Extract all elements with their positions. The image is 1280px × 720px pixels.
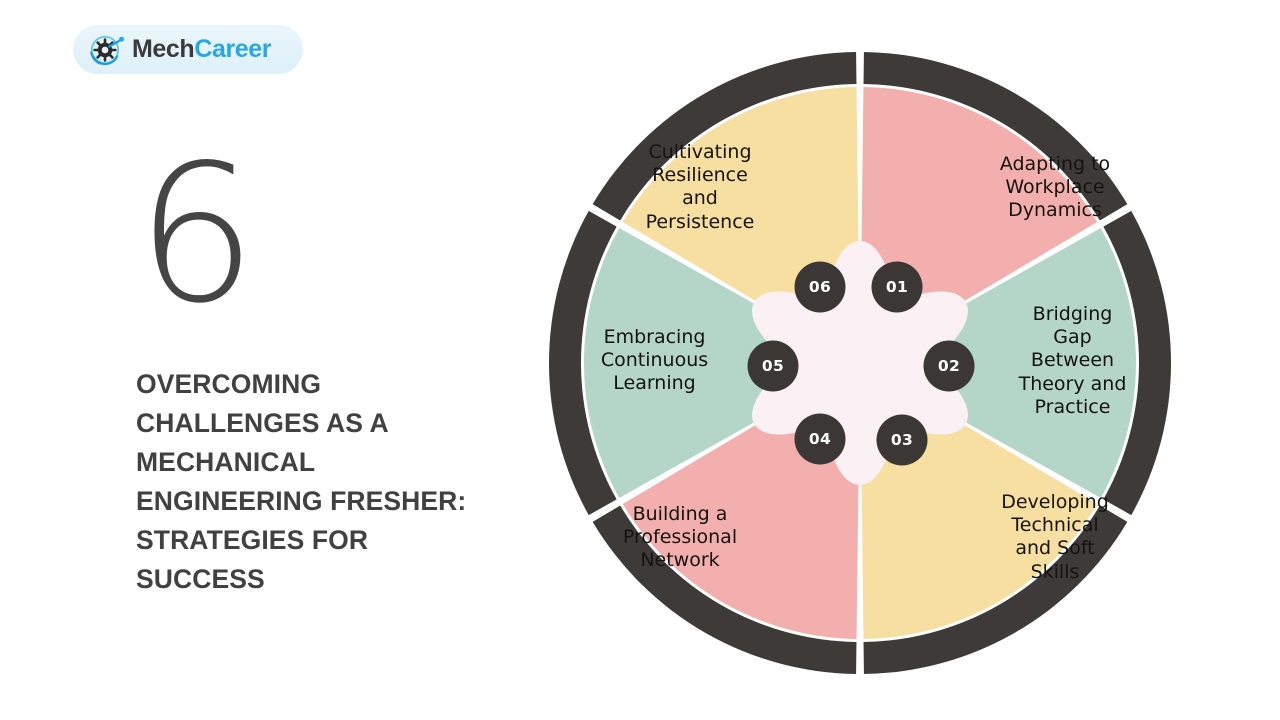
badge-circle-05[interactable]: [748, 341, 799, 392]
badge-circle-06[interactable]: [795, 262, 846, 313]
big-number-6: 6: [136, 140, 253, 330]
wheel-svg: [545, 48, 1175, 678]
logo-wordmark: MechCareer: [132, 37, 271, 62]
page-title: OVERCOMING CHALLENGES AS A MECHANICAL EN…: [136, 365, 481, 599]
logo-text-mech: Mech: [132, 35, 194, 63]
six-segment-wheel-diagram: Adapting to Workplace DynamicsBridging G…: [545, 48, 1175, 678]
logo-text-career: Career: [194, 35, 271, 63]
gear-target-logo-icon: [90, 34, 124, 66]
badge-circle-03[interactable]: [877, 415, 928, 466]
brand-logo[interactable]: MechCareer: [73, 25, 303, 74]
badge-circle-01[interactable]: [872, 262, 923, 313]
badge-circle-02[interactable]: [924, 341, 975, 392]
badge-circle-04[interactable]: [795, 414, 846, 465]
